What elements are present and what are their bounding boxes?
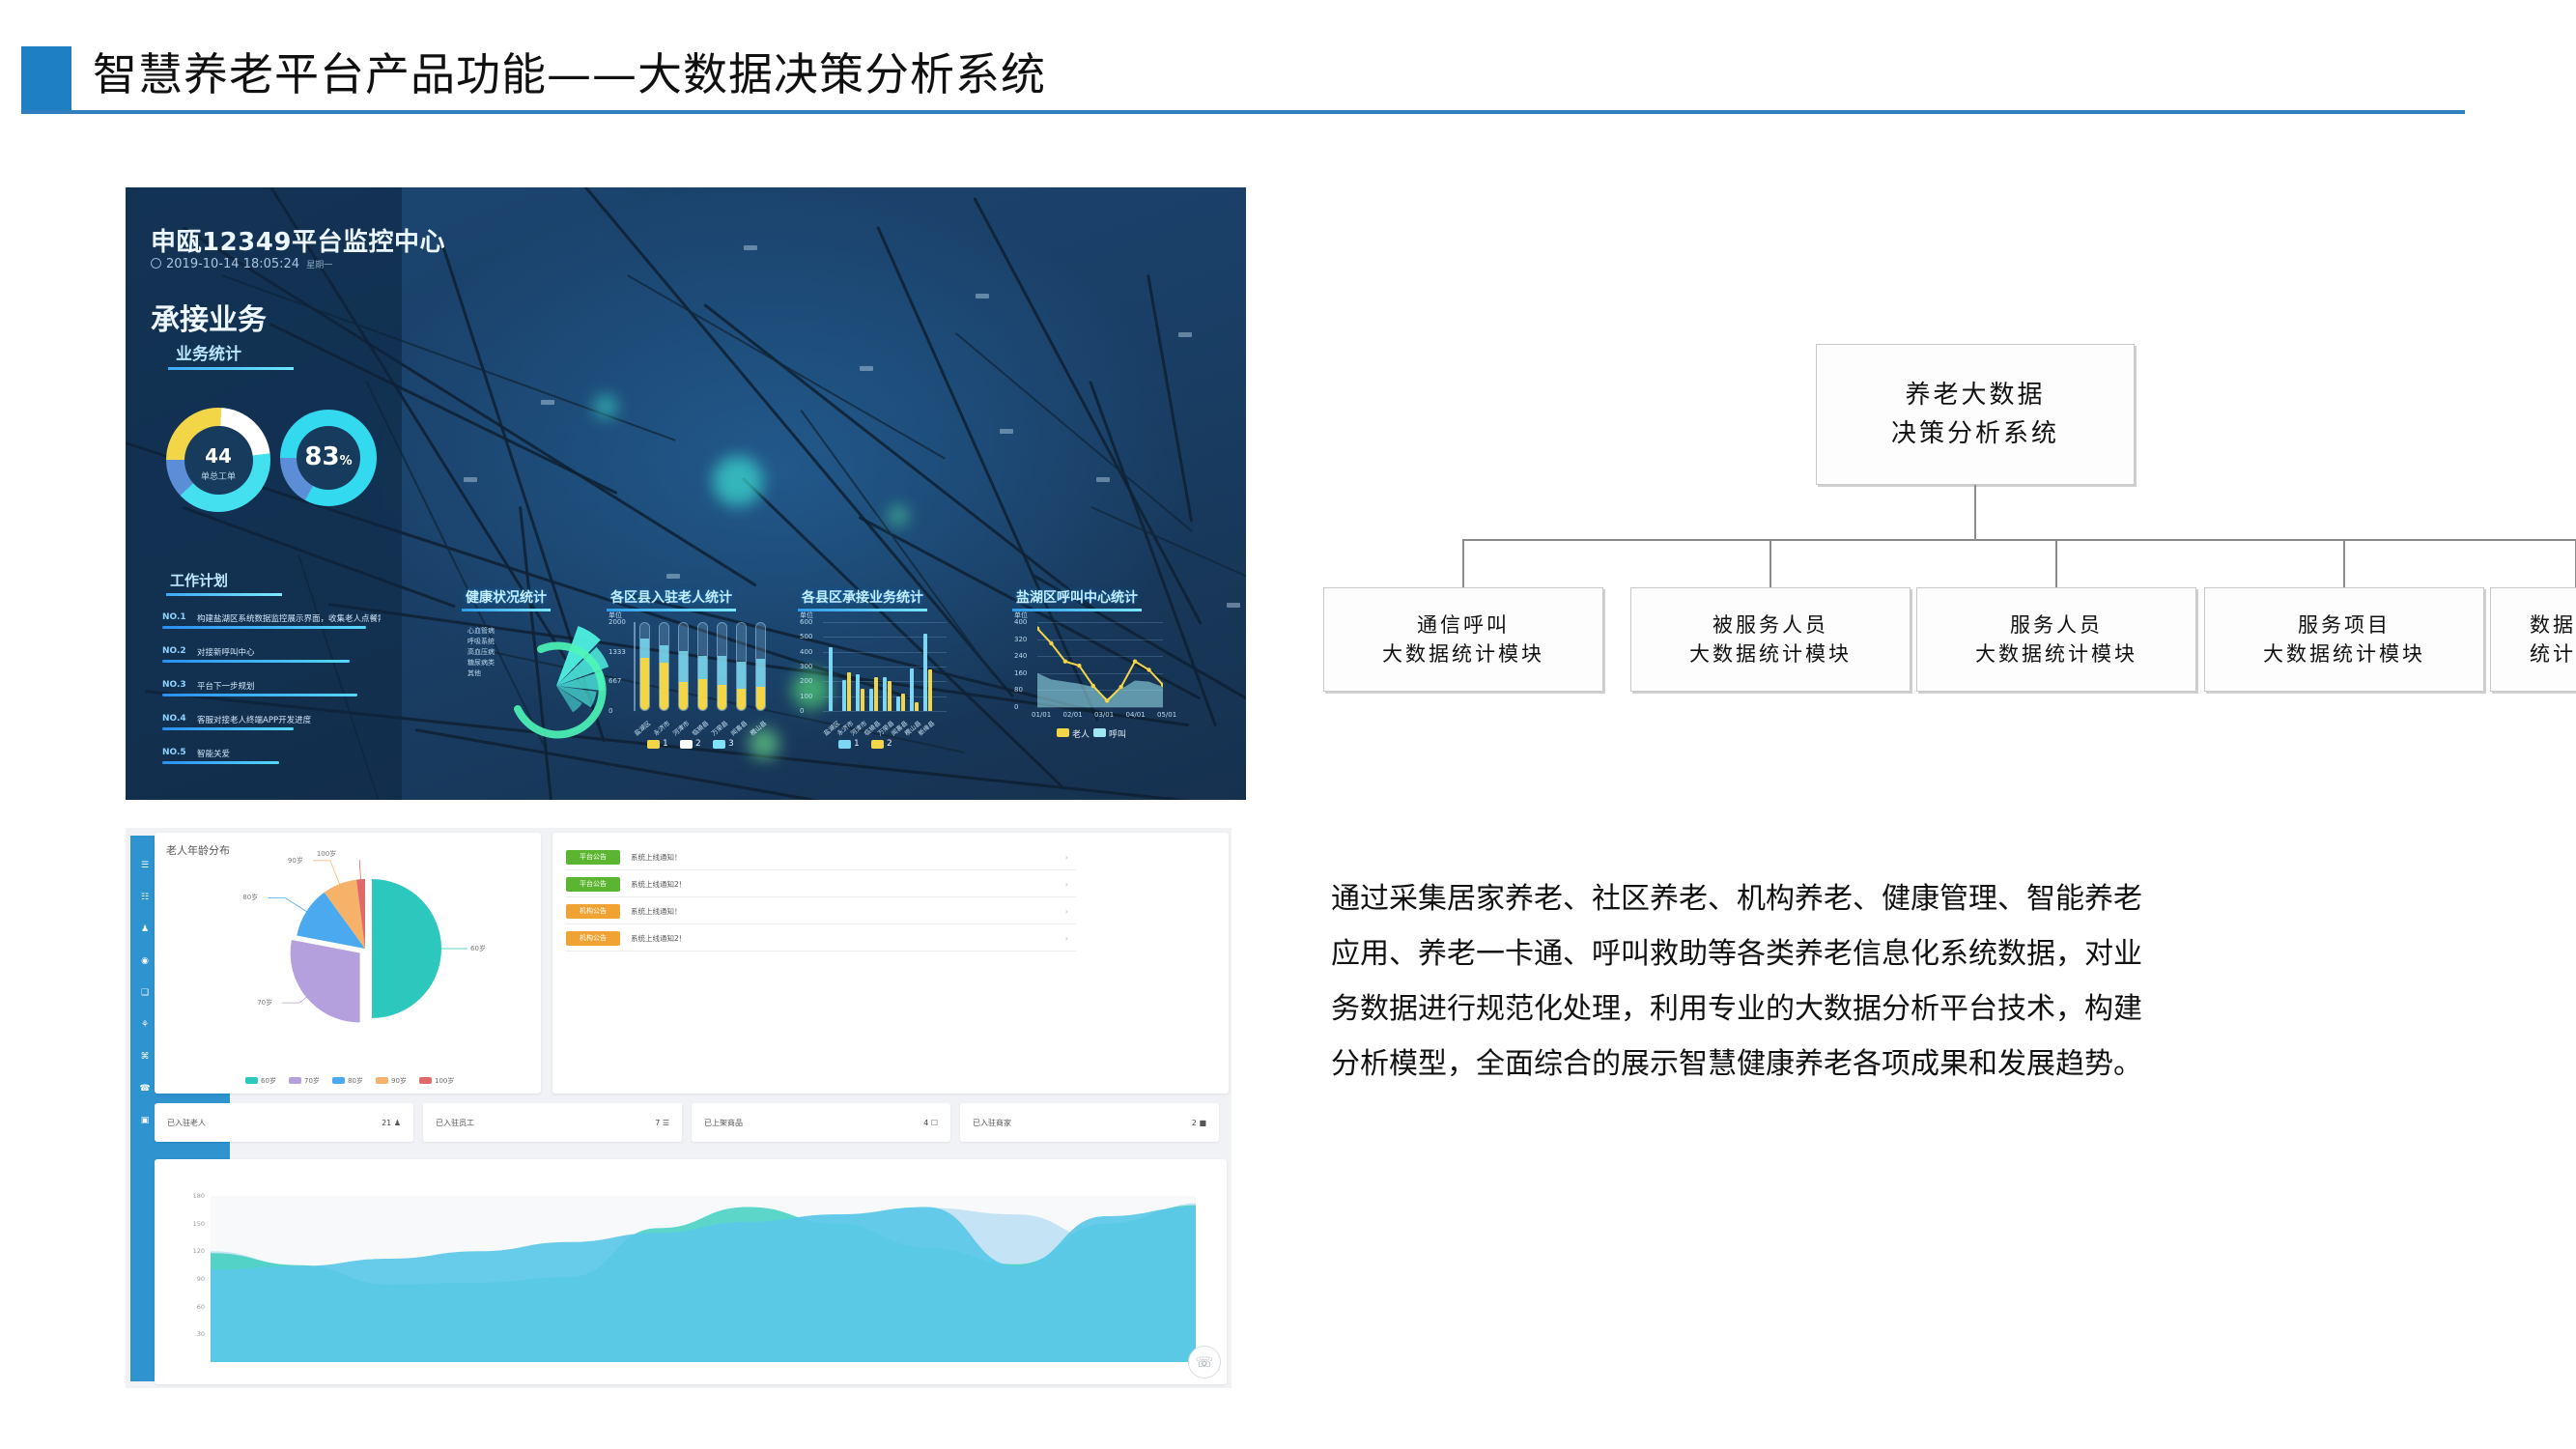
stat-label: 已入驻老人: [167, 1118, 206, 1128]
chevron-right-icon: ›: [1065, 934, 1076, 943]
tube-bar: [755, 622, 766, 711]
notice-row[interactable]: 机构公告系统上线通知！›: [566, 898, 1076, 924]
pie-legend-item: 60岁: [245, 1076, 276, 1086]
shop-icon: ■: [1199, 1119, 1206, 1127]
y-tick: 200: [800, 677, 812, 685]
pie-svg: [220, 860, 500, 1032]
gridline: [823, 637, 947, 638]
pie-legend-label: 70岁: [304, 1077, 320, 1085]
x-tick: 03/01: [1094, 711, 1114, 719]
slide-root: 智慧养老平台产品功能——大数据决策分析系统 申瓯12349平台监控中心 2019…: [0, 0, 2576, 1449]
org-child-node-1: 通信呼叫大数据统计模块: [1323, 587, 1603, 692]
notice-row[interactable]: 机构公告系统上线通知2！›: [566, 925, 1076, 952]
area-y-tick: 60: [184, 1303, 205, 1311]
stat-card-4[interactable]: 已入驻商家2 ■: [960, 1103, 1219, 1142]
x-tick: 04/01: [1126, 711, 1146, 719]
y-tick: 600: [800, 618, 812, 626]
gridline: [823, 622, 947, 623]
notice-badge: 平台公告: [566, 877, 620, 892]
building-icon: ☷: [139, 893, 151, 902]
y-tick: 240: [1014, 652, 1027, 660]
bar: [847, 672, 851, 711]
stat-value: 2 ■: [1192, 1119, 1206, 1127]
panel-underline: [1012, 609, 1142, 611]
legend-label: 1: [663, 739, 668, 749]
stat-value: 21 ♟: [382, 1119, 401, 1127]
legend-label: 2: [887, 739, 892, 749]
stat-card-2[interactable]: 已入驻员工7 ☰: [423, 1103, 682, 1142]
gridline: [823, 711, 947, 712]
gridline: [1037, 707, 1163, 708]
goods-icon: ❑: [139, 988, 151, 998]
work-plan-text: 构建盐湖区系统数据监控展示界面，收集老人点餐需求。: [197, 612, 381, 624]
org-child-line1: 通信呼叫: [1417, 611, 1510, 639]
x-tick: 02/01: [1063, 711, 1083, 719]
org-child-node-3: 服务人员大数据统计模块: [1916, 587, 2196, 692]
nightingale-chart: [512, 616, 628, 761]
age-chart-title: 老人年龄分布: [166, 842, 230, 858]
tube-bar: [659, 622, 669, 711]
legend-swatch: [680, 740, 693, 749]
stat-label: 已上架商品: [704, 1118, 743, 1128]
y-tick: 2000: [609, 618, 626, 626]
area-y-tick: 120: [184, 1247, 205, 1255]
pie-legend-swatch: [289, 1077, 301, 1084]
clock-icon: [151, 258, 161, 269]
monitor-weekday: 星期一: [306, 261, 332, 270]
org-root-line1: 养老大数据: [1905, 376, 2045, 414]
org-line-vertical-1: [1462, 539, 1464, 587]
org-root-line2: 决策分析系统: [1891, 414, 2059, 453]
bar: [923, 634, 927, 711]
monitor-icon: ▣: [139, 1116, 151, 1125]
map-place-label: [1096, 477, 1110, 482]
title-accent-block: [21, 46, 71, 110]
bar: [910, 668, 914, 711]
business-donut-1: 44单总工单: [166, 408, 270, 512]
org-child-node-5: 数据占比统计模块: [2490, 587, 2576, 692]
map-place-label: [744, 245, 757, 250]
map-place-label: [541, 400, 554, 405]
org-child-line2: 大数据统计模块: [2263, 639, 2425, 668]
nightingale-label: 高血压病: [467, 647, 495, 657]
map-place-label: [464, 477, 477, 482]
call-center-line-chart: [1037, 622, 1163, 707]
legend-swatch: [713, 740, 725, 749]
notice-badge: 平台公告: [566, 850, 620, 865]
pie-legend-label: 60岁: [261, 1077, 276, 1085]
map-place-label: [666, 574, 680, 579]
map-glow-marker: [713, 456, 763, 506]
chevron-right-icon: ›: [1065, 907, 1076, 916]
map-place-label: [1178, 332, 1192, 337]
tube-bar: [697, 622, 708, 711]
legend-swatch: [647, 740, 660, 749]
legend-label: 呼叫: [1109, 727, 1126, 740]
stat-label: 已入驻员工: [436, 1118, 474, 1128]
work-plan-item: NO.3平台下一步规划: [162, 680, 379, 699]
panel-title-2: 各区县入驻老人统计: [610, 587, 732, 607]
donut-value: 44: [166, 444, 270, 468]
notice-badge: 机构公告: [566, 931, 620, 946]
monitor-section-label: 业务统计: [176, 340, 241, 370]
y-tick: 320: [1014, 636, 1027, 643]
pie-legend-item: 100岁: [419, 1076, 454, 1086]
tube-bar: [639, 622, 650, 711]
page-title: 智慧养老平台产品功能——大数据决策分析系统: [93, 43, 1046, 106]
gridline: [823, 667, 947, 668]
y-tick: 160: [1014, 669, 1027, 677]
chevron-right-icon: ›: [1065, 880, 1076, 889]
description-paragraph: 通过采集居家养老、社区养老、机构养老、健康管理、智能养老应用、养老一卡通、呼叫救…: [1331, 871, 2558, 1092]
work-plan-no: NO.2: [162, 646, 186, 656]
notice-text: 系统上线通知！: [631, 906, 1065, 917]
store-icon: ◉: [139, 956, 151, 966]
org-chart: 养老大数据 决策分析系统 通信呼叫大数据统计模块被服务人员大数据统计模块服务人员…: [1323, 338, 2560, 715]
person-icon: ♟: [394, 1119, 401, 1127]
work-plan-no: NO.4: [162, 714, 186, 724]
bar: [856, 674, 860, 711]
nightingale-label: 呼吸系统: [467, 637, 495, 646]
work-plan-title: 工作计划: [170, 570, 228, 590]
map-place-label: [860, 366, 873, 371]
tube-bar: [717, 622, 727, 711]
nightingale-label: 糖尿病类: [467, 658, 495, 668]
work-plan-text: 平台下一步规划: [197, 680, 255, 692]
stat-card-1[interactable]: 已入驻老人21 ♟: [155, 1103, 413, 1142]
panel-title-1: 健康状况统计: [466, 587, 547, 607]
pie-legend-swatch: [376, 1077, 388, 1084]
title-underline: [21, 110, 2465, 114]
stat-label: 已入驻商家: [973, 1118, 1011, 1128]
donut-label: 单总工单: [166, 469, 270, 482]
org-line-vertical-3: [2055, 539, 2057, 587]
phone-icon: ☎: [139, 1084, 151, 1094]
bar: [888, 681, 892, 711]
monitor-datetime: 2019-10-14 18:05:24 星期一: [151, 257, 332, 271]
y-tick: 80: [1014, 686, 1023, 694]
work-plan-item: NO.5智能关爱: [162, 748, 379, 767]
volunteer-icon: ⚘: [139, 1020, 151, 1030]
work-plan-text: 客服对接老人终端APP开发进度: [197, 714, 311, 725]
y-tick: 100: [800, 693, 812, 700]
pie-legend-label: 100岁: [435, 1077, 454, 1085]
panel-title-4: 盐湖区呼叫中心统计: [1016, 587, 1138, 607]
legend-swatch: [871, 740, 884, 749]
notice-text: 系统上线通知！: [631, 852, 1065, 863]
legend-label: 2: [695, 739, 701, 749]
donut-value: 83%: [280, 442, 377, 471]
paragraph-line-1: 通过采集居家养老、社区养老、机构养老、健康管理、智能养老: [1331, 871, 2558, 926]
trend-area-chart-card: 180150120906030 ☏: [155, 1159, 1227, 1384]
y-tick: 0: [1014, 703, 1018, 711]
map-place-label: [1000, 429, 1013, 434]
map-glow-marker: [594, 395, 617, 418]
legend-swatch: [838, 740, 851, 749]
age-pie-chart: 60岁70岁80岁90岁100岁60岁70岁80岁90岁100岁: [220, 860, 500, 1082]
box-icon: ☐: [931, 1119, 938, 1127]
y-tick: 0: [609, 707, 612, 715]
pie-legend-label: 80岁: [348, 1077, 363, 1085]
legend-swatch: [1057, 728, 1069, 737]
monitor-datetime-text: 2019-10-14 18:05:24: [166, 257, 299, 271]
pie-legend-item: 80岁: [332, 1076, 363, 1086]
bar: [915, 702, 919, 711]
phone-icon[interactable]: ☏: [1188, 1346, 1221, 1378]
notice-row[interactable]: 平台公告系统上线通知2！›: [566, 871, 1076, 897]
donut-unit: %: [340, 454, 353, 469]
notice-text: 系统上线通知2！: [631, 879, 1065, 890]
pie-slice: [291, 940, 360, 1023]
work-plan-underline: [166, 593, 282, 596]
stat-card-3[interactable]: 已上架商品4 ☐: [692, 1103, 950, 1142]
work-plan-progress: [162, 727, 294, 730]
legend-swatch: [1093, 728, 1106, 737]
work-plan-no: NO.3: [162, 680, 186, 690]
staff-icon: ☰: [663, 1119, 669, 1127]
panel-underline: [607, 609, 736, 611]
monitor-dashboard-screenshot: 申瓯12349平台监控中心 2019-10-14 18:05:24 星期一 承接…: [126, 187, 1246, 800]
paragraph-line-4: 分析模型，全面综合的展示智慧健康养老各项成果和发展趋势。: [1331, 1037, 2558, 1092]
x-tick: 05/01: [1157, 711, 1176, 719]
work-plan-no: NO.1: [162, 612, 186, 622]
pie-legend-item: 70岁: [289, 1076, 320, 1086]
y-tick: 1333: [609, 648, 626, 656]
notice-badge: 机构公告: [566, 904, 620, 919]
panel-underline: [798, 609, 927, 611]
work-plan-no: NO.5: [162, 748, 186, 757]
work-plan-item: NO.4客服对接老人终端APP开发进度: [162, 714, 379, 733]
legend-label: 1: [854, 739, 860, 749]
x-tick: 01/01: [1032, 711, 1051, 719]
bar: [901, 694, 905, 711]
y-tick: 400: [1014, 618, 1027, 626]
org-line-vertical-2: [1769, 539, 1771, 587]
org-child-line2: 大数据统计模块: [1975, 639, 2137, 668]
y-axis-line: [634, 622, 636, 711]
map-glow-marker: [792, 670, 831, 709]
work-plan-item: NO.1构建盐湖区系统数据监控展示界面，收集老人点餐需求。: [162, 612, 379, 632]
tube-bar: [678, 622, 689, 711]
map-place-label: [1227, 603, 1240, 608]
org-child-line2: 统计模块: [2530, 639, 2576, 668]
notice-text: 系统上线通知2！: [631, 933, 1065, 944]
device-icon: ⌘: [139, 1052, 151, 1062]
org-child-node-4: 服务项目大数据统计模块: [2204, 587, 2484, 692]
gridline: [823, 652, 947, 653]
org-line-vertical-root: [1974, 485, 1976, 539]
y-tick: 500: [800, 633, 812, 640]
work-plan-progress: [162, 761, 279, 764]
org-line-horizontal-bus: [1463, 539, 2576, 541]
org-child-line2: 大数据统计模块: [1689, 639, 1852, 668]
business-donut-2: 83%: [280, 410, 377, 506]
panel-underline: [462, 609, 551, 611]
area-y-tick: 150: [184, 1220, 205, 1228]
monitor-heading: 承接业务: [151, 296, 267, 338]
work-plan-progress: [162, 660, 350, 663]
tube-bar: [736, 622, 747, 711]
y-tick: 667: [609, 677, 621, 685]
bar: [869, 689, 873, 711]
stat-cards-row: 已入驻老人21 ♟已入驻员工7 ☰已上架商品4 ☐已入驻商家2 ■: [155, 1103, 1231, 1146]
bar: [874, 677, 878, 711]
panel-title-3: 各县区承接业务统计: [802, 587, 923, 607]
slide-title-bar: 智慧养老平台产品功能——大数据决策分析系统: [0, 46, 2492, 110]
paragraph-line-2: 应用、养老一卡通、呼叫救助等各类养老信息化系统数据，对业: [1331, 926, 2558, 981]
stat-value: 7 ☰: [655, 1119, 669, 1127]
menu-icon: ☰: [139, 861, 151, 870]
map-place-label: [976, 294, 989, 298]
pie-legend-label: 90岁: [391, 1077, 407, 1085]
org-line-vertical-4: [2343, 539, 2345, 587]
legend-label: 老人: [1072, 727, 1090, 740]
monitor-title: 申瓯12349平台监控中心: [151, 222, 445, 258]
paragraph-line-3: 务数据进行规范化处理，利用专业的大数据分析平台技术，构建: [1331, 981, 2558, 1037]
nightingale-label: 心血管病: [467, 626, 495, 636]
pie-callout-label: 100岁: [317, 849, 336, 859]
work-plan-item: NO.2对接新呼叫中心: [162, 646, 379, 666]
org-child-line1: 服务项目: [2298, 611, 2391, 639]
pie-legend-swatch: [245, 1077, 258, 1084]
pie-legend-swatch: [419, 1077, 432, 1084]
work-plan-progress: [162, 694, 357, 696]
map-glow-marker: [889, 506, 908, 526]
y-tick: 0: [800, 707, 804, 715]
notice-row[interactable]: 平台公告系统上线通知！›: [566, 844, 1076, 870]
area-y-tick: 30: [184, 1330, 205, 1338]
org-child-line2: 大数据统计模块: [1382, 639, 1544, 668]
stat-value: 4 ☐: [923, 1119, 938, 1127]
work-plan-text: 智能关爱: [197, 748, 230, 759]
bar: [842, 680, 846, 711]
notice-list[interactable]: 平台公告系统上线通知！›平台公告系统上线通知2！›机构公告系统上线通知！›机构公…: [552, 844, 1229, 1086]
pie-legend-item: 90岁: [376, 1076, 407, 1086]
legend-label: 3: [728, 739, 734, 749]
nightingale-label: 其他: [467, 668, 481, 678]
y-tick: 300: [800, 663, 812, 670]
area-chart-svg: [211, 1196, 1196, 1362]
org-child-node-2: 被服务人员大数据统计模块: [1630, 587, 1911, 692]
org-child-line1: 数据占比: [2530, 611, 2576, 639]
area-y-tick: 180: [184, 1192, 205, 1200]
y-tick: 400: [800, 648, 812, 656]
pie-legend-swatch: [332, 1077, 345, 1084]
chevron-right-icon: ›: [1065, 853, 1076, 862]
user-icon: ♟: [139, 924, 151, 934]
bar: [928, 669, 932, 711]
work-plan-text: 对接新呼叫中心: [197, 646, 255, 658]
monitor-section-underline: [168, 367, 294, 370]
org-child-line1: 服务人员: [2010, 611, 2103, 639]
bar: [896, 696, 900, 711]
bar: [829, 647, 833, 711]
org-child-line1: 被服务人员: [1713, 611, 1828, 639]
bar: [861, 689, 864, 711]
org-root-node: 养老大数据 决策分析系统: [1816, 344, 2135, 485]
area-y-tick: 90: [184, 1275, 205, 1283]
bar: [883, 677, 887, 711]
work-plan-progress: [162, 626, 366, 629]
